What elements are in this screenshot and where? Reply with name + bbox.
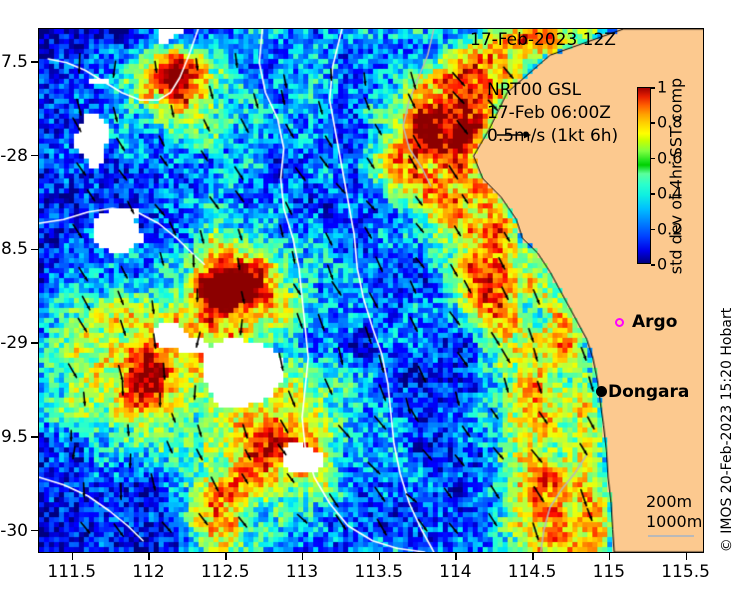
x-tick-label: 114	[439, 562, 471, 582]
x-tick	[532, 553, 534, 560]
x-tick-label: 111.5	[47, 562, 96, 582]
x-tick	[72, 553, 74, 560]
y-tick	[31, 342, 38, 344]
y-tick	[31, 61, 38, 63]
x-tick	[455, 553, 457, 560]
colorbar-tick	[651, 87, 655, 89]
argo-label: Argo	[632, 312, 677, 332]
x-tick	[148, 553, 150, 560]
dongara-marker	[596, 386, 607, 397]
x-tick	[302, 553, 304, 560]
colorbar-tick	[651, 264, 655, 266]
x-tick	[379, 553, 381, 560]
x-tick-label: 112.5	[201, 562, 250, 582]
credit-text: © IMOS 20-Feb-2023 15:20 Hobart	[719, 308, 735, 552]
x-tick-label: 115.5	[661, 562, 710, 582]
x-tick-label: 114.5	[508, 562, 557, 582]
colorbar-tick	[651, 158, 655, 160]
x-tick	[609, 553, 611, 560]
dongara-label: Dongara	[608, 382, 689, 402]
depth-legend-line	[648, 535, 694, 537]
x-tick-label: 115	[593, 562, 625, 582]
y-tick	[31, 249, 38, 251]
colorbar-title: std dev of 4hr SST comp	[667, 78, 686, 274]
y-tick	[31, 530, 38, 532]
y-tick-label: -29	[0, 333, 28, 353]
colorbar-tick	[651, 229, 655, 231]
date-stamp: 17-Feb-2023 12Z	[470, 30, 616, 50]
figure-root: 111.5112112.5113113.5114114.5115115.5 -2…	[0, 0, 740, 592]
y-tick-label: -28.5	[0, 239, 28, 259]
depth-label-1000m: 1000m	[646, 512, 702, 532]
y-tick-label: -27.5	[0, 52, 28, 72]
y-tick	[31, 155, 38, 157]
colorbar-tick	[651, 122, 655, 124]
x-tick-label: 113.5	[354, 562, 403, 582]
x-tick-label: 112	[132, 562, 164, 582]
colorbar	[637, 87, 651, 264]
reference-arrow-icon	[497, 130, 531, 140]
depth-label-200m: 200m	[646, 492, 702, 512]
vector-legend-line2: 17-Feb 06:00Z	[487, 102, 618, 125]
y-tick-label: -29.5	[0, 427, 28, 447]
colorbar-tick	[651, 193, 655, 195]
x-tick	[225, 553, 227, 560]
y-tick	[31, 436, 38, 438]
vector-legend-line1: NRT00 GSL	[487, 79, 618, 102]
argo-marker	[615, 318, 624, 327]
x-tick-label: 113	[286, 562, 318, 582]
depth-contour-legend: 200m 1000m	[646, 492, 702, 532]
y-tick-label: -28	[0, 146, 28, 166]
x-tick	[686, 553, 688, 560]
y-tick-label: -30	[0, 521, 28, 541]
